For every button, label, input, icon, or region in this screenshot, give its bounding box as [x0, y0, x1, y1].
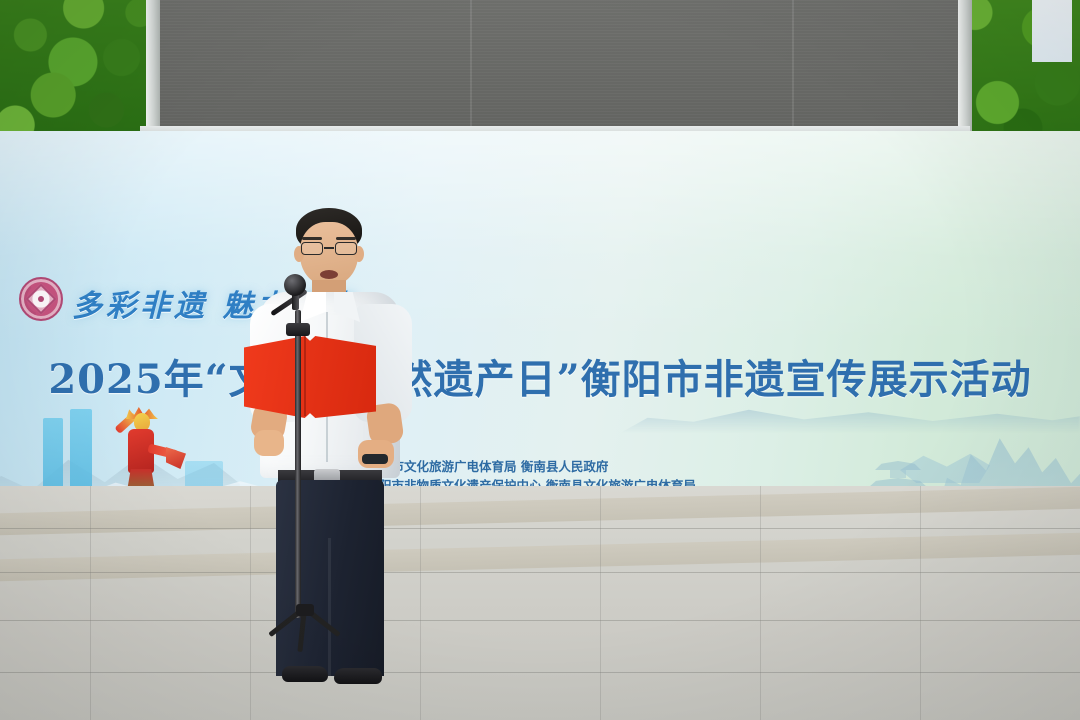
wall-seam — [470, 0, 472, 130]
wall-frame-post-left — [146, 0, 160, 134]
shadow-puppet-figure — [108, 413, 172, 486]
emblem-center-dot — [38, 296, 44, 302]
paving-joint — [920, 486, 921, 720]
speaker-eyebrow — [336, 237, 356, 240]
paving-joint — [600, 486, 601, 720]
tripod-hub — [296, 604, 314, 616]
dress-shoe — [282, 666, 328, 682]
event-banner: 多彩非遗 魅力清泉 2025年“文化和自然遗产日”衡阳市非遗宣传展示活动 主办单… — [0, 131, 1080, 486]
speaker-mouth — [320, 270, 338, 279]
red-speech-folder — [244, 336, 376, 418]
paving-joint — [0, 572, 1080, 573]
paving-joint — [0, 528, 1080, 529]
paving-strip — [0, 533, 1080, 581]
eyeglass-lens — [335, 242, 357, 255]
trouser-seam — [328, 538, 331, 676]
speaker-hand-left — [254, 430, 284, 456]
paving-joint — [90, 486, 91, 720]
tripod-mic-stand — [232, 608, 380, 652]
paving-ground — [0, 486, 1080, 720]
microphone-icon — [284, 274, 306, 296]
paving-joint — [760, 486, 761, 720]
paving-joint — [0, 620, 1080, 621]
event-emblem-icon — [19, 277, 63, 321]
folder-fold — [304, 336, 306, 416]
pagoda-roof — [875, 461, 921, 470]
wall-seam — [792, 0, 794, 130]
pagoda-tier — [890, 469, 906, 478]
microphone-clamp — [286, 323, 310, 336]
cyan-building-bar — [185, 461, 223, 486]
pagoda-silhouette — [862, 461, 934, 486]
eyeglasses-icon — [300, 242, 358, 255]
speaker-eyebrow — [302, 237, 322, 240]
sky-gap — [1032, 0, 1072, 62]
dress-shoe — [334, 668, 382, 684]
wristwatch — [362, 454, 388, 464]
pagoda-roof — [869, 478, 927, 486]
event-photo-scene: 多彩非遗 魅力清泉 2025年“文化和自然遗产日”衡阳市非遗宣传展示活动 主办单… — [0, 0, 1080, 720]
microphone-stand-pole — [295, 310, 301, 618]
tree-foliage-left — [0, 0, 152, 140]
cyan-building-bar — [70, 409, 92, 486]
cyan-building-bar — [43, 418, 63, 486]
speaker-at-microphone — [238, 208, 422, 668]
eyeglass-bridge — [324, 247, 334, 249]
banner-main-title: 2025年“文化和自然遗产日”衡阳市非遗宣传展示活动 — [0, 347, 1080, 405]
eyeglass-lens — [301, 242, 323, 255]
gray-backdrop-wall — [152, 0, 962, 130]
wall-frame-post-right — [958, 0, 972, 134]
paving-joint — [0, 672, 1080, 673]
